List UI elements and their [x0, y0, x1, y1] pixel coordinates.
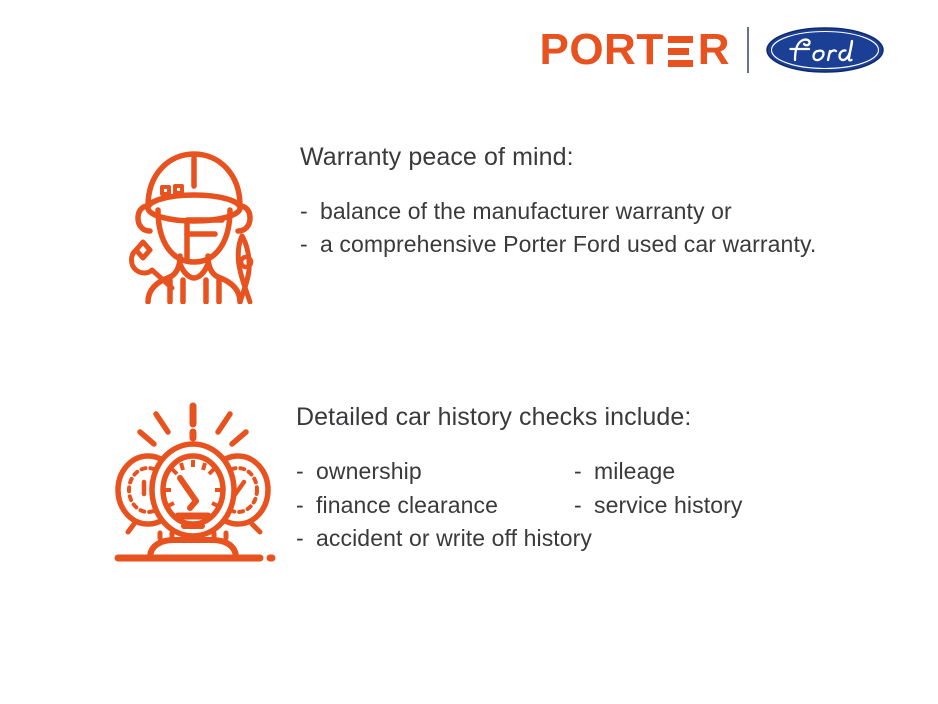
ford-oval-logo-icon: [766, 27, 884, 73]
mechanic-hardhat-tools-icon: [110, 138, 278, 304]
bullet-label: balance of the manufacturer warranty or: [320, 197, 732, 226]
bullet-dash: -: [300, 230, 320, 259]
bullet-dash: -: [574, 491, 594, 520]
section-history-checks: Detailed car history checks include: - o…: [104, 398, 742, 568]
bullet-dash: -: [296, 457, 316, 486]
history-text-block: Detailed car history checks include: - o…: [296, 398, 742, 558]
bullet-label-accident-history: accident or write off history: [316, 524, 592, 553]
brand-header: PORT R: [539, 22, 884, 78]
bullet-label-ownership: ownership: [316, 457, 422, 486]
list-item: - accident or write off history: [296, 524, 742, 553]
porter-wordmark-part2: R: [698, 28, 730, 72]
bullet-dash: -: [574, 457, 594, 486]
list-item: - finance clearance - service history: [296, 491, 742, 520]
bullet-label: a comprehensive Porter Ford used car war…: [320, 230, 816, 259]
bullet-label-service-history: service history: [594, 491, 742, 520]
warranty-text-block: Warranty peace of mind: - balance of the…: [300, 138, 816, 262]
bullet-dash: -: [296, 524, 316, 553]
porter-wordmark: PORT R: [539, 30, 730, 70]
brand-divider-icon: [747, 27, 749, 73]
list-item: - balance of the manufacturer warranty o…: [300, 197, 816, 226]
porter-stylised-e-icon: [668, 36, 693, 67]
bullet-dash: -: [296, 491, 316, 520]
porter-wordmark-part1: PORT: [539, 28, 663, 72]
dashboard-gauges-warning-icon: [104, 398, 282, 568]
bullet-dash: -: [300, 197, 320, 226]
warranty-bullet-list: - balance of the manufacturer warranty o…: [300, 197, 816, 259]
section-warranty: Warranty peace of mind: - balance of the…: [110, 138, 816, 304]
history-heading: Detailed car history checks include:: [296, 402, 742, 433]
warranty-heading: Warranty peace of mind:: [300, 142, 816, 173]
list-item: - a comprehensive Porter Ford used car w…: [300, 230, 816, 259]
bullet-label-mileage: mileage: [594, 457, 675, 486]
history-bullet-list: - ownership - mileage - finance clearanc…: [296, 457, 742, 553]
bullet-label-finance-clearance: finance clearance: [316, 491, 498, 520]
list-item: - ownership - mileage: [296, 457, 742, 486]
